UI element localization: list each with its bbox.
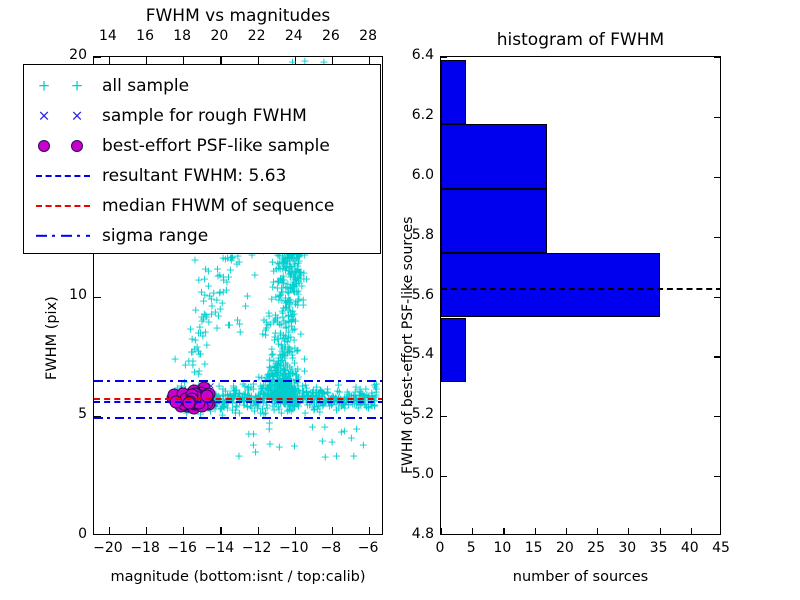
- scatter-point-all-sample: +: [283, 335, 292, 346]
- left-ytick-label: 20: [45, 47, 87, 63]
- legend-plus-icon: +: [38, 79, 51, 94]
- scatter-point-all-sample: +: [258, 329, 267, 340]
- legend-item[interactable]: resultant FWHM: 5.63: [24, 161, 380, 191]
- scatter-point-all-sample: +: [291, 316, 300, 327]
- scatter-point-all-sample: +: [270, 315, 279, 326]
- scatter-point-all-sample: +: [318, 387, 327, 398]
- scatter-point-all-sample: +: [293, 260, 302, 271]
- scatter-point-all-sample: +: [274, 333, 283, 344]
- scatter-point-all-sample: +: [275, 385, 284, 396]
- scatter-point-all-sample: +: [327, 437, 336, 448]
- left-xtick-label-bottom: −8: [313, 540, 349, 556]
- scatter-point-all-sample: +: [281, 377, 290, 388]
- scatter-point-all-sample: +: [348, 399, 357, 410]
- scatter-point-all-sample: +: [207, 300, 216, 311]
- scatter-point-all-sample: +: [265, 377, 274, 388]
- scatter-point-all-sample: +: [285, 343, 294, 354]
- scatter-point-all-sample: +: [281, 322, 290, 333]
- scatter-point-all-sample: +: [244, 382, 253, 393]
- scatter-point-all-sample: +: [278, 373, 287, 384]
- right-ytick: [441, 57, 447, 58]
- scatter-point-all-sample: +: [279, 316, 288, 327]
- scatter-point-all-sample: +: [289, 387, 298, 398]
- scatter-point-all-sample: +: [283, 386, 292, 397]
- scatter-point-all-sample: +: [170, 354, 179, 365]
- scatter-point-all-sample: +: [243, 291, 252, 302]
- scatter-point-all-sample: +: [293, 295, 302, 306]
- left-xtick-bottom: [183, 527, 184, 534]
- scatter-point-all-sample: +: [284, 287, 293, 298]
- scatter-point-all-sample: +: [265, 369, 274, 380]
- scatter-point-all-sample: +: [209, 288, 218, 299]
- scatter-point-all-sample: +: [290, 382, 299, 393]
- legend-cross-icon: ×: [38, 109, 51, 124]
- right-xtick: [441, 528, 442, 534]
- scatter-point-all-sample: +: [287, 387, 296, 398]
- scatter-point-all-sample: +: [241, 301, 250, 312]
- scatter-point-all-sample: +: [289, 270, 298, 281]
- scatter-point-all-sample: +: [277, 286, 286, 297]
- scatter-point-all-sample: +: [279, 364, 288, 375]
- histogram-bar: [441, 318, 466, 382]
- scatter-point-all-sample: +: [260, 383, 269, 394]
- scatter-point-all-sample: +: [288, 398, 297, 409]
- left-ylabel: FWHM (pix): [44, 296, 60, 380]
- scatter-point-all-sample: +: [281, 303, 290, 314]
- scatter-point-all-sample: +: [194, 348, 203, 359]
- right-xtick-label: 40: [674, 540, 706, 556]
- scatter-point-all-sample: +: [274, 404, 283, 415]
- right-ylabel: FWHM of best-effort PSF-like sources: [400, 217, 416, 474]
- scatter-point-all-sample: +: [273, 381, 282, 392]
- scatter-point-all-sample: +: [280, 398, 289, 409]
- scatter-point-all-sample: +: [294, 272, 303, 283]
- left-ytick-label: 0: [45, 526, 87, 542]
- right-xtick-label: 35: [643, 540, 675, 556]
- scatter-point-all-sample: +: [309, 385, 318, 396]
- scatter-point-all-sample: +: [266, 387, 275, 398]
- scatter-point-all-sample: +: [200, 308, 209, 319]
- scatter-point-all-sample: +: [227, 255, 236, 266]
- scatter-point-all-sample: +: [205, 290, 214, 301]
- scatter-point-all-sample: +: [287, 386, 296, 397]
- scatter-point-all-sample: +: [316, 384, 325, 395]
- scatter-point-all-sample: +: [299, 274, 308, 285]
- scatter-point-all-sample: +: [272, 359, 281, 370]
- scatter-point-all-sample: +: [286, 332, 295, 343]
- scatter-point-all-sample: +: [276, 273, 285, 284]
- scatter-point-all-sample: +: [276, 320, 285, 331]
- reference-line-sigma-range-upper: [94, 380, 383, 382]
- scatter-point-all-sample: +: [328, 391, 337, 402]
- scatter-point-all-sample: +: [288, 314, 297, 325]
- scatter-point-all-sample: +: [290, 281, 299, 292]
- scatter-point-all-sample: +: [274, 262, 283, 273]
- right-xtick-label: 20: [549, 540, 581, 556]
- scatter-point-all-sample: +: [280, 385, 289, 396]
- scatter-point-all-sample: +: [284, 269, 293, 280]
- left-xtick-top: [146, 57, 147, 64]
- scatter-point-all-sample: +: [282, 261, 291, 272]
- scatter-point-all-sample: +: [285, 381, 294, 392]
- scatter-point-all-sample: +: [347, 432, 356, 443]
- left-xtick-top: [369, 57, 370, 64]
- scatter-point-all-sample: +: [279, 381, 288, 392]
- scatter-point-all-sample: +: [271, 291, 280, 302]
- legend-item[interactable]: median FHWM of sequence: [24, 191, 380, 221]
- scatter-point-all-sample: +: [364, 402, 373, 413]
- scatter-point-all-sample: +: [275, 384, 284, 395]
- scatter-point-all-sample: +: [285, 361, 294, 372]
- scatter-point-all-sample: +: [285, 382, 294, 393]
- scatter-point-all-sample: +: [286, 294, 295, 305]
- scatter-point-all-sample: +: [289, 285, 298, 296]
- scatter-point-all-sample: +: [286, 387, 295, 398]
- scatter-point-all-sample: +: [283, 386, 292, 397]
- scatter-point-all-sample: +: [280, 385, 289, 396]
- scatter-point-all-sample: +: [290, 391, 299, 402]
- left-xtick-bottom: [332, 527, 333, 534]
- scatter-point-all-sample: +: [283, 256, 292, 267]
- scatter-point-all-sample: +: [229, 382, 238, 393]
- scatter-point-all-sample: +: [285, 345, 294, 356]
- right-xtick-label: 25: [580, 540, 612, 556]
- scatter-point-all-sample: +: [282, 384, 291, 395]
- scatter-point-all-sample: +: [300, 354, 309, 365]
- scatter-point-all-sample: +: [334, 403, 343, 414]
- left-panel-title: FWHM vs magnitudes: [93, 6, 383, 26]
- scatter-point-all-sample: +: [280, 336, 289, 347]
- scatter-point-all-sample: +: [271, 360, 280, 371]
- scatter-point-all-sample: +: [318, 387, 327, 398]
- scatter-point-all-sample: +: [278, 366, 287, 377]
- scatter-point-all-sample: +: [299, 387, 308, 398]
- scatter-point-all-sample: +: [290, 323, 299, 334]
- left-ytick: [94, 57, 101, 58]
- scatter-point-all-sample: +: [284, 300, 293, 311]
- scatter-point-all-sample: +: [284, 383, 293, 394]
- scatter-point-all-sample: +: [285, 381, 294, 392]
- scatter-point-all-sample: +: [226, 391, 235, 402]
- scatter-point-all-sample: +: [276, 289, 285, 300]
- legend-item[interactable]: best-effort PSF-like sample: [24, 131, 380, 161]
- scatter-point-all-sample: +: [311, 387, 320, 398]
- scatter-point-all-sample: +: [194, 327, 203, 338]
- scatter-point-all-sample: +: [293, 265, 302, 276]
- scatter-point-all-sample: +: [202, 311, 211, 322]
- legend-circle-icon: [38, 140, 50, 152]
- scatter-point-all-sample: +: [286, 296, 295, 307]
- scatter-point-all-sample: +: [304, 391, 313, 402]
- scatter-point-all-sample: +: [278, 253, 287, 264]
- scatter-point-all-sample: +: [197, 286, 206, 297]
- scatter-point-all-sample: +: [287, 346, 296, 357]
- scatter-point-all-sample: +: [294, 277, 303, 288]
- scatter-point-all-sample: +: [298, 381, 307, 392]
- scatter-point-all-sample: +: [276, 360, 285, 371]
- scatter-point-all-sample: +: [286, 267, 295, 278]
- scatter-point-all-sample: +: [289, 276, 298, 287]
- scatter-point-all-sample: +: [289, 255, 298, 266]
- scatter-point-all-sample: +: [264, 307, 273, 318]
- scatter-point-all-sample: +: [296, 328, 305, 339]
- scatter-point-all-sample: +: [199, 313, 208, 324]
- scatter-point-all-sample: +: [264, 311, 273, 322]
- left-xtick-bottom: [146, 527, 147, 534]
- scatter-point-all-sample: +: [234, 257, 243, 268]
- scatter-point-all-sample: +: [215, 288, 224, 299]
- scatter-point-all-sample: +: [276, 289, 285, 300]
- scatter-point-all-sample: +: [279, 302, 288, 313]
- scatter-point-all-sample: +: [286, 261, 295, 272]
- scatter-point-all-sample: +: [284, 384, 293, 395]
- scatter-point-all-sample: +: [288, 280, 297, 291]
- scatter-point-all-sample: +: [197, 312, 206, 323]
- scatter-point-all-sample: +: [275, 442, 284, 453]
- scatter-point-all-sample: +: [271, 362, 280, 373]
- scatter-point-all-sample: +: [288, 368, 297, 379]
- scatter-point-all-sample: +: [249, 440, 258, 451]
- scatter-point-all-sample: +: [274, 338, 283, 349]
- scatter-point-all-sample: +: [204, 280, 213, 291]
- scatter-point-all-sample: +: [355, 383, 364, 394]
- scatter-point-all-sample: +: [281, 341, 290, 352]
- right-xtick: [691, 528, 692, 534]
- scatter-point-all-sample: +: [230, 385, 239, 396]
- scatter-point-all-sample: +: [291, 369, 300, 380]
- scatter-point-all-sample: +: [200, 358, 209, 369]
- right-ytick-label: 6.0: [396, 167, 434, 183]
- scatter-point-all-sample: +: [290, 358, 299, 369]
- scatter-point-all-sample: +: [283, 305, 292, 316]
- scatter-point-all-sample: +: [283, 362, 292, 373]
- scatter-point-all-sample: +: [287, 382, 296, 393]
- scatter-point-all-sample: +: [249, 384, 258, 395]
- scatter-point-all-sample: +: [278, 373, 287, 384]
- scatter-point-all-sample: +: [265, 424, 274, 435]
- scatter-point-all-sample: +: [290, 259, 299, 270]
- scatter-point-all-sample: +: [279, 368, 288, 379]
- scatter-point-all-sample: +: [278, 305, 287, 316]
- scatter-point-all-sample: +: [219, 274, 228, 285]
- scatter-point-all-sample: +: [270, 334, 279, 345]
- right-ytick-right: [714, 356, 720, 357]
- scatter-point-all-sample: +: [223, 391, 232, 402]
- scatter-point-all-sample: +: [188, 360, 197, 371]
- scatter-point-all-sample: +: [287, 264, 296, 275]
- left-xtick-label-bottom: −18: [127, 540, 163, 556]
- legend-item-label: sigma range: [102, 226, 208, 246]
- scatter-point-all-sample: +: [283, 286, 292, 297]
- scatter-point-all-sample: +: [291, 365, 300, 376]
- left-xtick-label-bottom: −12: [239, 540, 275, 556]
- right-ytick-right: [714, 416, 720, 417]
- scatter-point-all-sample: +: [265, 383, 274, 394]
- scatter-point-all-sample: +: [288, 253, 297, 264]
- scatter-point-all-sample: +: [293, 299, 302, 310]
- legend-item-label: best-effort PSF-like sample: [102, 136, 330, 156]
- scatter-point-all-sample: +: [291, 255, 300, 266]
- scatter-point-all-sample: +: [234, 450, 243, 461]
- scatter-point-all-sample: +: [354, 394, 363, 405]
- scatter-point-all-sample: +: [280, 381, 289, 392]
- scatter-point-all-sample: +: [287, 263, 296, 274]
- scatter-point-all-sample: +: [196, 348, 205, 359]
- scatter-point-all-sample: +: [278, 342, 287, 353]
- scatter-point-all-sample: +: [294, 276, 303, 287]
- reference-line-resultant-fwhm: [94, 401, 383, 403]
- scatter-point-all-sample: +: [281, 358, 290, 369]
- right-xtick: [628, 528, 629, 534]
- scatter-point-all-sample: +: [316, 386, 325, 397]
- left-xtick-label-top: 28: [356, 28, 380, 44]
- scatter-point-all-sample: +: [284, 387, 293, 398]
- scatter-point-all-sample: +: [216, 303, 225, 314]
- scatter-point-all-sample: +: [302, 385, 311, 396]
- scatter-point-all-sample: +: [288, 403, 297, 414]
- scatter-point-all-sample: +: [287, 364, 296, 375]
- scatter-point-all-sample: +: [265, 355, 274, 366]
- scatter-point-all-sample: +: [285, 302, 294, 313]
- scatter-point-all-sample: +: [281, 387, 290, 398]
- scatter-point-all-sample: +: [280, 383, 289, 394]
- scatter-point-all-sample: +: [291, 383, 300, 394]
- legend-plus-icon: +: [71, 79, 84, 94]
- scatter-point-all-sample: +: [372, 383, 381, 394]
- legend-cross-icon: ×: [71, 109, 84, 124]
- scatter-point-all-sample: +: [283, 406, 292, 417]
- scatter-point-all-sample: +: [279, 261, 288, 272]
- scatter-point-all-sample: +: [268, 385, 277, 396]
- scatter-point-all-sample: +: [340, 403, 349, 414]
- scatter-point-all-sample: +: [279, 386, 288, 397]
- legend-item[interactable]: sigma range: [24, 221, 380, 251]
- scatter-point-all-sample: +: [274, 363, 283, 374]
- scatter-point-all-sample: +: [284, 390, 293, 401]
- scatter-point-all-sample: +: [290, 274, 299, 285]
- right-ytick-right: [714, 237, 720, 238]
- right-ytick-right: [714, 297, 720, 298]
- scatter-point-all-sample: +: [286, 307, 295, 318]
- legend-item[interactable]: ++all sample: [24, 71, 380, 101]
- scatter-point-all-sample: +: [272, 391, 281, 402]
- scatter-point-all-sample: +: [266, 363, 275, 374]
- scatter-point-all-sample: +: [276, 382, 285, 393]
- scatter-point-all-sample: +: [281, 264, 290, 275]
- scatter-point-all-sample: +: [280, 351, 289, 362]
- scatter-point-all-sample: +: [276, 384, 285, 395]
- scatter-point-all-sample: +: [286, 387, 295, 398]
- scatter-point-all-sample: +: [279, 376, 288, 387]
- scatter-point-all-sample: +: [277, 353, 286, 364]
- scatter-point-all-sample: +: [278, 257, 287, 268]
- scatter-point-all-sample: +: [283, 382, 292, 393]
- scatter-point-all-sample: +: [191, 305, 200, 316]
- scatter-point-all-sample: +: [274, 385, 283, 396]
- right-ytick-right: [714, 476, 720, 477]
- scatter-point-all-sample: +: [228, 252, 237, 263]
- scatter-point-all-sample: +: [269, 355, 278, 366]
- scatter-point-all-sample: +: [279, 330, 288, 341]
- scatter-point-all-sample: +: [279, 383, 288, 394]
- left-xtick-label-top: 26: [319, 28, 343, 44]
- right-ytick-label: 6.4: [396, 47, 434, 63]
- scatter-point-all-sample: +: [243, 382, 252, 393]
- scatter-point-all-sample: +: [270, 331, 279, 342]
- scatter-point-all-sample: +: [271, 386, 280, 397]
- scatter-point-all-sample: +: [262, 383, 271, 394]
- scatter-point-all-sample: +: [351, 395, 360, 406]
- scatter-point-all-sample: +: [302, 274, 311, 285]
- scatter-point-all-sample: +: [186, 324, 195, 335]
- right-xtick-label: 10: [486, 540, 518, 556]
- scatter-point-all-sample: +: [271, 391, 280, 402]
- reference-line-median-fhwm-of-sequence: [94, 398, 383, 400]
- scatter-point-all-sample: +: [221, 386, 230, 397]
- scatter-point-all-sample: +: [271, 363, 280, 374]
- scatter-point-all-sample: +: [273, 384, 282, 395]
- legend-circle-icon: [71, 140, 83, 152]
- scatter-point-all-sample: +: [279, 257, 288, 268]
- scatter-point-all-sample: +: [258, 404, 267, 415]
- scatter-point-all-sample: +: [295, 267, 304, 278]
- scatter-point-all-sample: +: [320, 421, 329, 432]
- right-ytick-right: [714, 57, 720, 58]
- scatter-point-all-sample: +: [197, 315, 206, 326]
- scatter-point-all-sample: +: [221, 395, 230, 406]
- scatter-point-all-sample: +: [271, 327, 280, 338]
- scatter-point-all-sample: +: [286, 283, 295, 294]
- scatter-point-all-sample: +: [257, 382, 266, 393]
- scatter-point-all-sample: +: [271, 359, 280, 370]
- scatter-point-all-sample: +: [240, 381, 249, 392]
- scatter-point-all-sample: +: [190, 343, 199, 354]
- scatter-point-all-sample: +: [293, 363, 302, 374]
- scatter-point-all-sample: +: [243, 385, 252, 396]
- scatter-point-all-sample: +: [276, 367, 285, 378]
- scatter-point-all-sample: +: [250, 269, 259, 280]
- left-xtick-label-top: 20: [207, 28, 231, 44]
- scatter-point-all-sample: +: [262, 402, 271, 413]
- left-xtick-label-top: 18: [170, 28, 194, 44]
- scatter-point-all-sample: +: [286, 390, 295, 401]
- scatter-point-all-sample: +: [276, 383, 285, 394]
- scatter-point-all-sample: +: [296, 268, 305, 279]
- scatter-point-all-sample: +: [226, 265, 235, 276]
- scatter-point-all-sample: +: [280, 334, 289, 345]
- scatter-point-all-sample: +: [283, 347, 292, 358]
- scatter-point-all-sample: +: [274, 387, 283, 398]
- scatter-point-all-sample: +: [284, 387, 293, 398]
- legend-item[interactable]: ××sample for rough FWHM: [24, 101, 380, 131]
- scatter-point-all-sample: +: [311, 391, 320, 402]
- scatter-point-all-sample: +: [274, 353, 283, 364]
- right-ytick-right: [714, 177, 720, 178]
- scatter-point-all-sample: +: [284, 295, 293, 306]
- scatter-point-all-sample: +: [194, 368, 203, 379]
- scatter-point-all-sample: +: [261, 324, 270, 335]
- scatter-point-all-sample: +: [268, 349, 277, 360]
- scatter-point-all-sample: +: [287, 309, 296, 320]
- scatter-point-all-sample: +: [230, 385, 239, 396]
- scatter-point-all-sample: +: [272, 387, 281, 398]
- scatter-point-all-sample: +: [236, 327, 245, 338]
- scatter-point-all-sample: +: [267, 376, 276, 387]
- scatter-point-all-sample: +: [360, 390, 369, 401]
- scatter-point-all-sample: +: [200, 273, 209, 284]
- scatter-point-all-sample: +: [361, 383, 370, 394]
- scatter-point-all-sample: +: [290, 260, 299, 271]
